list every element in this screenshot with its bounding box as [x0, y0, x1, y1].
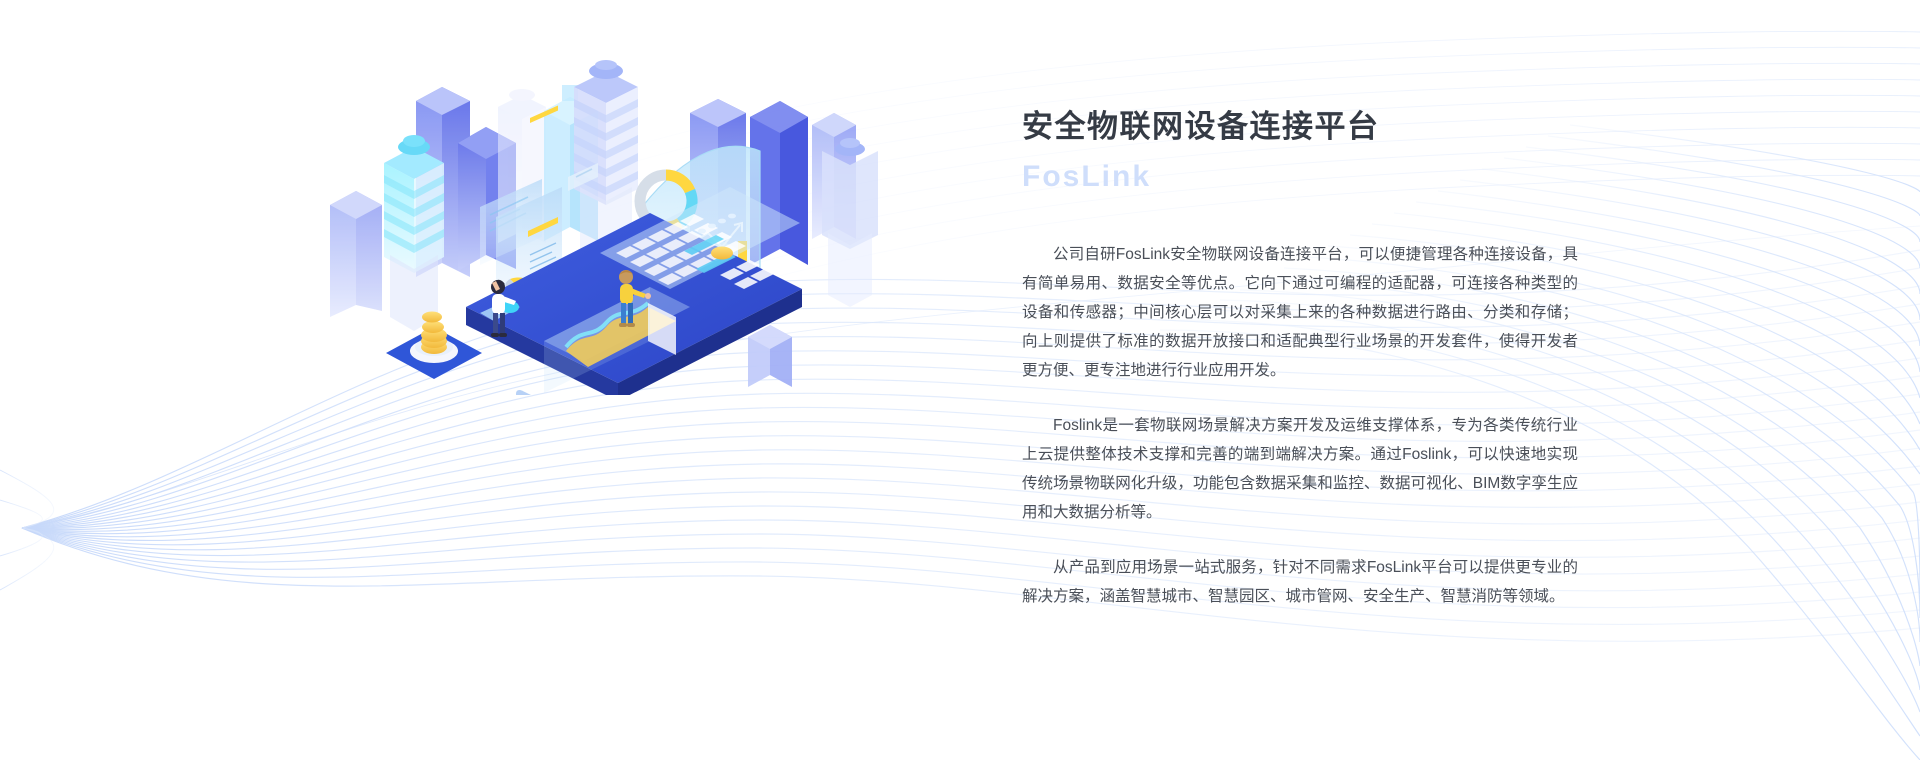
page-title: 安全物联网设备连接平台 — [1022, 108, 1582, 147]
coin-stack — [421, 312, 447, 355]
hero-illustration — [330, 55, 890, 395]
background-wave-decoration — [0, 0, 1920, 760]
building-far-left — [330, 191, 382, 317]
body-paragraphs: 公司自研FosLink安全物联网设备连接平台，可以便捷管理各种连接设备，具有简单… — [1022, 240, 1582, 611]
paragraph-1: 公司自研FosLink安全物联网设备连接平台，可以便捷管理各种连接设备，具有简单… — [1022, 240, 1578, 385]
page-root: 安全物联网设备连接平台 FosLink 公司自研FosLink安全物联网设备连接… — [0, 0, 1920, 760]
content-column: 安全物联网设备连接平台 FosLink 公司自研FosLink安全物联网设备连接… — [1022, 108, 1582, 611]
paragraph-2: Foslink是一套物联网场景解决方案开发及运维支撑体系，专为各类传统行业上云提… — [1022, 411, 1578, 527]
page-subtitle: FosLink — [1022, 157, 1582, 196]
paragraph-3: 从产品到应用场景一站式服务，针对不同需求FosLink平台可以提供更专业的解决方… — [1022, 553, 1578, 611]
building-low-right — [748, 325, 792, 387]
floating-coin — [711, 247, 733, 260]
server-tower — [384, 135, 444, 331]
